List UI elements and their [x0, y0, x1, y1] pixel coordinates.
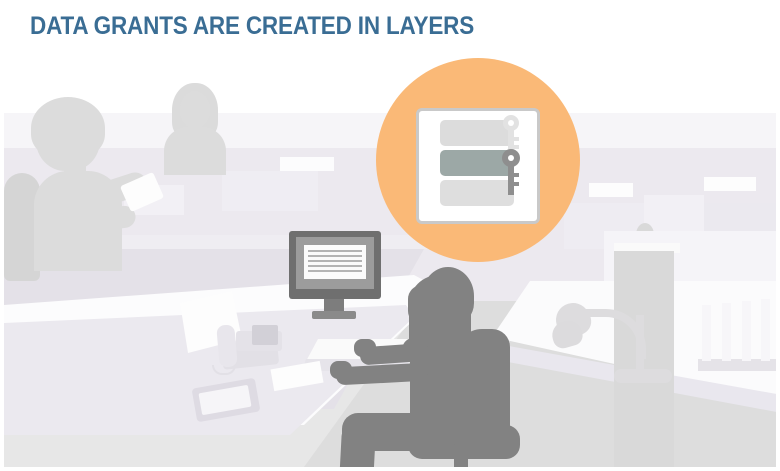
monitor-stand-base	[312, 311, 356, 319]
worker-hand-left	[330, 361, 352, 379]
monitor-text-line	[308, 255, 362, 257]
key-lower-icon-tooth	[514, 182, 519, 186]
monitor-text-line	[308, 260, 362, 262]
key-upper-icon-hole	[508, 120, 514, 126]
office-illustration	[4, 53, 776, 467]
office-chair-post	[454, 451, 468, 467]
desk-phone-display	[252, 325, 278, 345]
data-layer-bottom	[440, 180, 514, 206]
monitor-text-line	[308, 270, 362, 272]
desk-phone-handset	[216, 324, 238, 367]
file-organizer-divider	[761, 299, 770, 361]
key-lower-icon-shaft	[508, 165, 514, 195]
cubicle-panel-right-5	[704, 177, 756, 191]
background-worker-1-body	[164, 127, 226, 175]
cubicle-panel-right-4	[589, 183, 633, 197]
worker-hand-right	[354, 339, 376, 357]
monitor-text-line	[308, 265, 362, 267]
illustration-slide: DATA GRANTS ARE CREATED IN LAYERS	[0, 0, 780, 471]
file-organizer-divider	[702, 305, 711, 361]
file-organizer-divider	[742, 301, 751, 361]
monitor-text-line	[308, 250, 362, 252]
key-upper-icon-tooth	[514, 137, 519, 141]
key-lower-icon-tooth	[514, 173, 519, 177]
key-upper-icon-tooth	[514, 145, 519, 149]
background-worker-1-head	[180, 91, 210, 129]
worker-shin	[338, 428, 376, 467]
file-organizer-divider	[722, 303, 731, 361]
key-lower-icon-hole	[508, 155, 514, 161]
cubicle-panel-left-3	[280, 157, 334, 171]
cubicle-panel-left-1	[222, 171, 318, 211]
page-title: DATA GRANTS ARE CREATED IN LAYERS	[30, 13, 474, 39]
desk-right-column	[614, 251, 674, 467]
